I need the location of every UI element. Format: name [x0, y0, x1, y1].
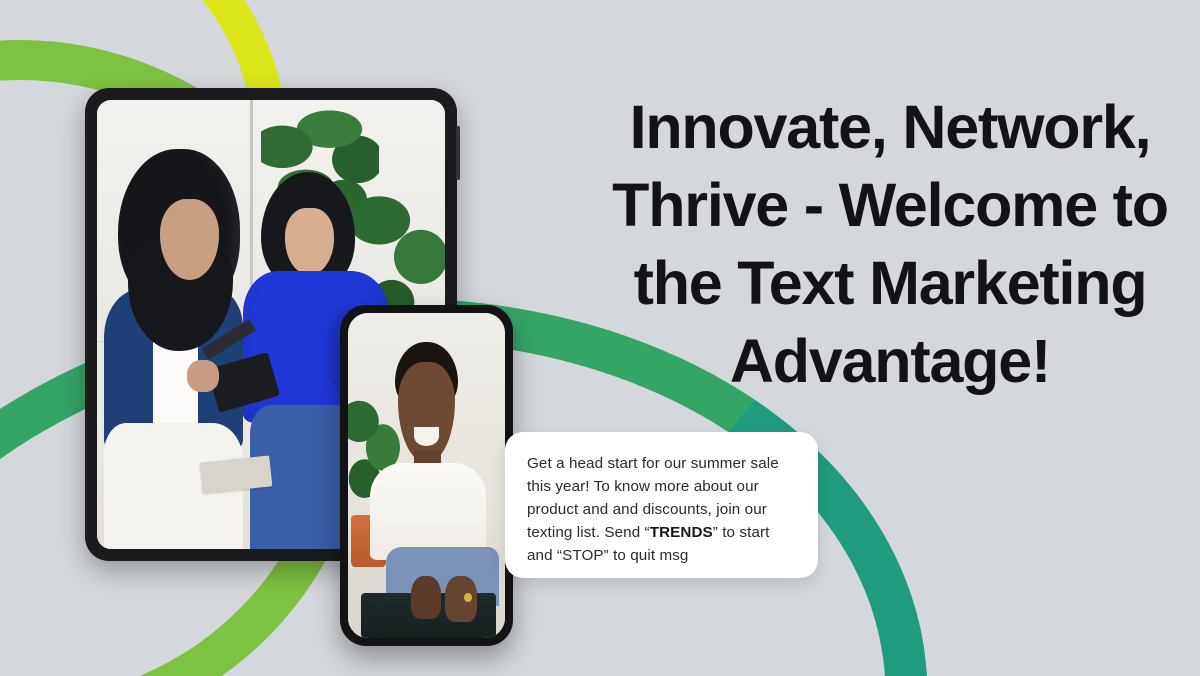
headline-line-2: Thrive - Welcome to: [600, 166, 1180, 244]
photo-man-hand-right: [445, 576, 476, 622]
photo-person1-face: [160, 199, 219, 280]
photo-man-hand-left: [411, 576, 441, 618]
photo-person2-face: [285, 208, 334, 275]
sms-message-keyword: TRENDS: [650, 524, 713, 541]
tablet-side-button-icon: [456, 126, 460, 180]
photo-man-sweater: [370, 463, 486, 561]
phone-screen-photo: [348, 313, 505, 638]
headline-line-1: Innovate, Network,: [600, 88, 1180, 166]
phone-photo-scene: [348, 313, 505, 638]
headline: Innovate, Network, Thrive - Welcome to t…: [600, 88, 1180, 400]
photo-man-ring: [464, 593, 472, 603]
sms-message-text: Get a head start for our summer sale thi…: [527, 452, 796, 567]
headline-line-4: Advantage!: [600, 322, 1180, 400]
promo-banner: Get a head start for our summer sale thi…: [0, 0, 1200, 676]
phone-device: [340, 305, 513, 646]
photo-wall-seam: [250, 100, 253, 307]
sms-message-bubble: Get a head start for our summer sale thi…: [505, 432, 818, 578]
headline-line-3: the Text Marketing: [600, 244, 1180, 322]
photo-person1-hand: [187, 360, 218, 391]
